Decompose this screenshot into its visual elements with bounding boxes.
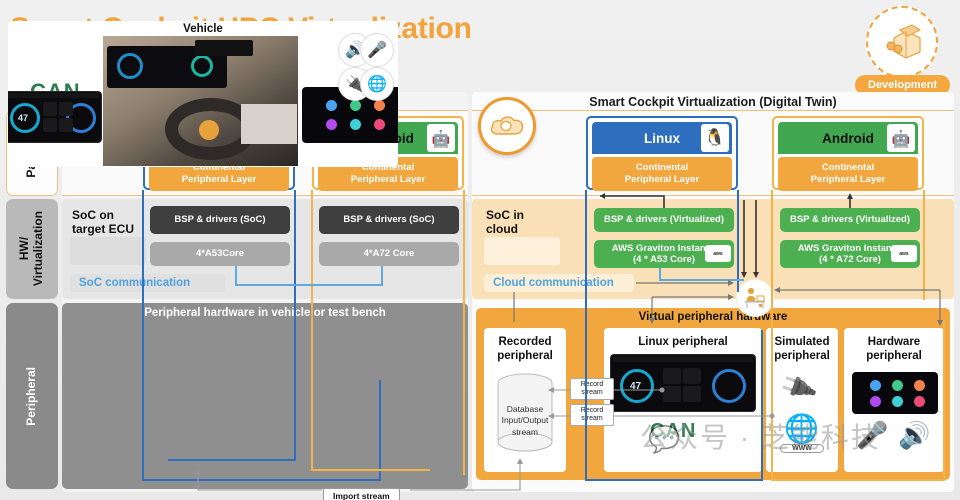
right-aws-instance-0: AWS Graviton Instance (4 * A53 Core) aws (594, 240, 734, 268)
microphone-icon-circle: 🎤 (360, 33, 394, 67)
left-peripheral-band (62, 303, 468, 489)
simulated-peripheral-title: Simulated peripheral (766, 328, 838, 364)
right-panel-title: Smart Cockpit Virtualization (Digital Tw… (472, 95, 954, 109)
left-peripheral-title: Peripheral hardware in vehicle or test b… (62, 307, 468, 319)
right-android-header: Android 🤖 android (778, 122, 918, 154)
recorded-peripheral-card: Recorded peripheral Database Input/Outpu… (484, 328, 566, 472)
rail-peripheral-label: Peripheral (25, 367, 39, 426)
left-cluster-screen: 47 (8, 91, 102, 143)
diagram-canvas: Smart Cockpit HPC Virtualization Softwar… (0, 0, 960, 500)
right-peripheral-title: Virtual peripheral hardware (476, 311, 950, 323)
linux-peripheral-cluster-screen: 47 (610, 354, 756, 412)
left-soc-placeholder (70, 237, 146, 265)
right-soc-label: SoC in cloud (486, 208, 560, 237)
hardware-peripheral-ivi-screen (852, 372, 938, 414)
right-linux-stack: Linux 🐧 Continental Peripheral Layer (586, 116, 738, 190)
android-robot-icon: 🤖 android (887, 124, 915, 152)
record-stream-pill-2: Record stream (570, 404, 614, 426)
import-stream-pill: Import stream (323, 488, 400, 500)
globe-www-icon-circle: 🌐 (360, 67, 394, 101)
recorded-peripheral-title: Recorded peripheral (484, 328, 566, 364)
vehicle-interior-photo (103, 36, 298, 166)
left-core-1: 4*A72 Core (319, 242, 459, 266)
vehicle-label: Vehicle (8, 23, 398, 35)
cloud-communication-pill: Cloud communication (484, 274, 634, 292)
tux-penguin-icon: 🐧 (701, 124, 729, 152)
right-aws-instance-1: AWS Graviton Instance (4 * A72 Core) aws (780, 240, 920, 268)
soc-communication-pill: SoC communication (70, 274, 225, 292)
right-linux-label: Linux (644, 131, 680, 146)
vehicle-photo-card: Vehicle CAN 47 🔊 🎤 🔌 🌐 (8, 21, 398, 167)
record-stream-pill-1: Record stream (570, 378, 614, 400)
watermark-text: 公众号 · 芝能科技 (640, 416, 881, 456)
left-bsp-drivers-0: BSP & drivers (SoC) (150, 206, 290, 234)
speaker-icon: 🔊 (898, 420, 930, 451)
rail-peripheral: Peripheral (6, 303, 58, 489)
engineer-at-desk-badge (736, 279, 774, 317)
linux-peripheral-title: Linux peripheral (604, 328, 762, 349)
rail-hw-virtualization: HW/Virtualization (6, 199, 58, 299)
rail-hw-label: HW/Virtualization (18, 211, 46, 286)
right-bsp-drivers-0: BSP & drivers (Virtualized) (594, 208, 734, 232)
left-core-0: 4*A53Core (150, 242, 290, 266)
right-bsp-drivers-1: BSP & drivers (Virtualized) (780, 208, 920, 232)
hardware-peripheral-title: Hardware peripheral (844, 328, 944, 364)
right-soc-placeholder (484, 237, 560, 265)
left-soc-label: SoC on target ECU (72, 208, 146, 237)
cloud-badge (478, 97, 536, 155)
aws-logo-icon: aws (705, 245, 731, 262)
aws-logo-icon: aws (891, 245, 917, 262)
left-bsp-drivers-1: BSP & drivers (SoC) (319, 206, 459, 234)
right-linux-continental-layer: Continental Peripheral Layer (592, 157, 732, 191)
right-android-stack: Android 🤖 android Continental Peripheral… (772, 116, 924, 190)
development-workstation-icon (880, 22, 924, 62)
android-robot-icon: 🤖 android (427, 124, 455, 152)
development-badge-circle (866, 6, 938, 78)
database-stream-label: Database Input/Output stream (488, 404, 562, 438)
usb-stick-icon: 🔌 (777, 367, 819, 409)
engineer-at-desk-icon (742, 286, 768, 310)
right-linux-header: Linux 🐧 (592, 122, 732, 154)
cloud-icon (487, 111, 527, 141)
right-android-continental-layer: Continental Peripheral Layer (778, 157, 918, 191)
right-android-label: Android (822, 131, 874, 146)
